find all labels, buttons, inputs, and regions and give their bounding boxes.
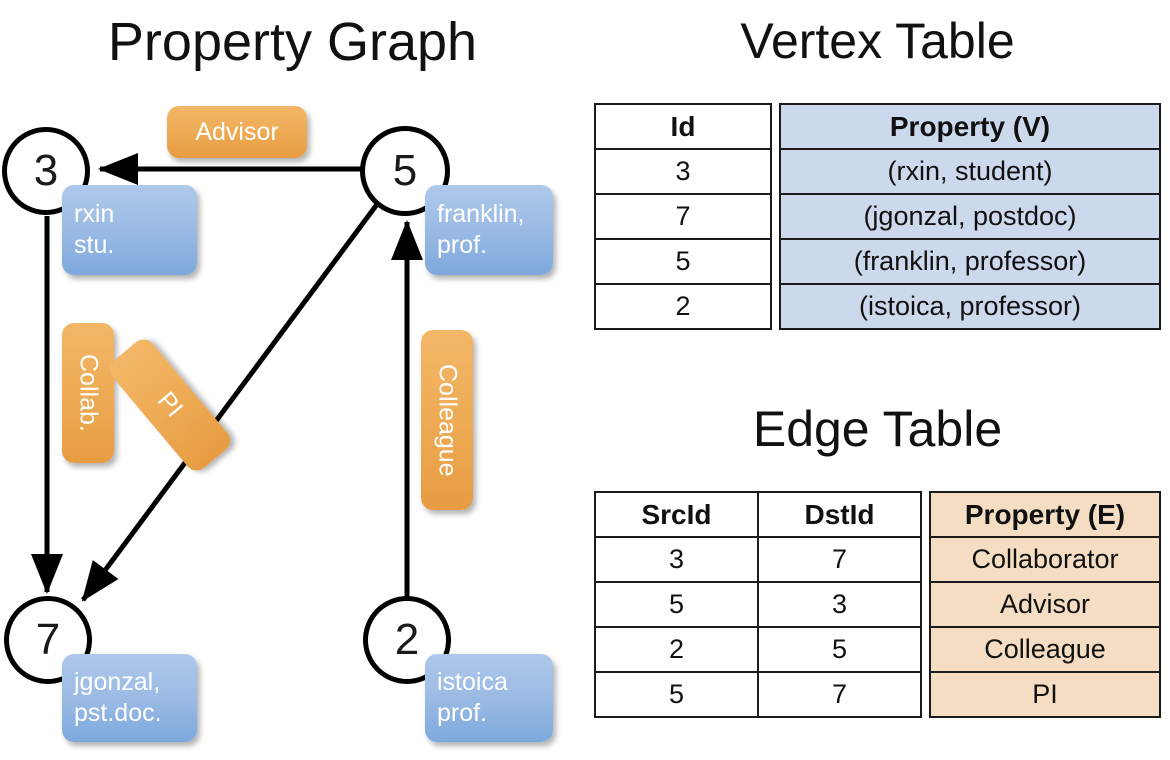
vertex-cell-id-3: 2 [595, 284, 771, 329]
vertex-table-property-column: Property (V) (rxin, student) (jgonzal, p… [779, 103, 1161, 330]
table-header-row: Id [595, 104, 771, 149]
edge-chip-colleague[interactable]: Colleague [421, 330, 473, 510]
table-row[interactable]: (istoica, professor) [780, 284, 1160, 329]
edge-table-src-dst-columns: SrcId DstId 3 7 5 3 2 5 5 7 [594, 491, 922, 718]
edge-cell-src-3: 5 [595, 672, 758, 717]
edge-chip-advisor[interactable]: Advisor [167, 106, 307, 158]
table-row[interactable]: 5 [595, 239, 771, 284]
edge-chip-collab-label: Collab. [74, 354, 103, 432]
edge-cell-dst-3: 7 [758, 672, 921, 717]
table-row[interactable]: (franklin, professor) [780, 239, 1160, 284]
table-row[interactable]: (rxin, student) [780, 149, 1160, 194]
table-header-row: Property (E) [930, 492, 1160, 537]
vertex-table-panel: Vertex Table Id 3 7 5 2 Property [585, 0, 1170, 390]
vertex-cell-property-2: (franklin, professor) [780, 239, 1160, 284]
vertex-chip-3-line2: stu. [74, 230, 185, 261]
property-graph-panel: Property Graph 3 5 7 2 rxin stu. frankli… [0, 0, 585, 760]
edge-table-property-column: Property (E) Collaborator Advisor Collea… [929, 491, 1161, 718]
table-row[interactable]: 3 7 [595, 537, 921, 582]
vertex-table-id-column: Id 3 7 5 2 [594, 103, 772, 330]
edge-chip-colleague-label: Colleague [433, 364, 462, 477]
page-title-vertex-table: Vertex Table [585, 10, 1170, 72]
edge-cell-dst-0: 7 [758, 537, 921, 582]
vertex-chip-3-line1: rxin [74, 199, 185, 230]
vertex-chip-5[interactable]: franklin, prof. [425, 185, 553, 275]
vertex-chip-7[interactable]: jgonzal, pst.doc. [62, 654, 197, 742]
table-header-row: Property (V) [780, 104, 1160, 149]
table-row[interactable]: Colleague [930, 627, 1160, 672]
table-row[interactable]: 7 [595, 194, 771, 239]
edge-cell-property-2: Colleague [930, 627, 1160, 672]
vertex-chip-5-line1: franklin, [437, 199, 541, 230]
vertex-chip-2-line1: istoica [437, 667, 541, 698]
edge-cell-src-0: 3 [595, 537, 758, 582]
edge-header-srcid: SrcId [595, 492, 758, 537]
vertex-header-id: Id [595, 104, 771, 149]
edge-chip-advisor-label: Advisor [195, 118, 278, 147]
vertex-cell-property-0: (rxin, student) [780, 149, 1160, 194]
edge-chip-pi-label: PI [151, 387, 188, 424]
vertex-chip-3[interactable]: rxin stu. [62, 185, 197, 275]
table-row[interactable]: 5 3 [595, 582, 921, 627]
table-row[interactable]: 5 7 [595, 672, 921, 717]
vertex-chip-7-line2: pst.doc. [74, 698, 185, 729]
edge-cell-dst-1: 3 [758, 582, 921, 627]
table-row[interactable]: 2 5 [595, 627, 921, 672]
table-row[interactable]: Advisor [930, 582, 1160, 627]
edge-cell-property-1: Advisor [930, 582, 1160, 627]
vertex-cell-id-2: 5 [595, 239, 771, 284]
edge-header-dstid: DstId [758, 492, 921, 537]
table-row[interactable]: (jgonzal, postdoc) [780, 194, 1160, 239]
vertex-cell-property-3: (istoica, professor) [780, 284, 1160, 329]
table-row[interactable]: PI [930, 672, 1160, 717]
edge-table-panel: Edge Table SrcId DstId 3 7 5 3 2 5 5 [585, 390, 1170, 760]
edge-cell-src-2: 2 [595, 627, 758, 672]
edge-chip-collab[interactable]: Collab. [62, 323, 114, 463]
edge-cell-property-3: PI [930, 672, 1160, 717]
table-row[interactable]: 3 [595, 149, 771, 194]
table-header-row: SrcId DstId [595, 492, 921, 537]
vertex-chip-2-line2: prof. [437, 698, 541, 729]
vertex-chip-2[interactable]: istoica prof. [425, 654, 553, 742]
edge-cell-src-1: 5 [595, 582, 758, 627]
vertex-header-property: Property (V) [780, 104, 1160, 149]
vertex-cell-id-0: 3 [595, 149, 771, 194]
edge-header-property: Property (E) [930, 492, 1160, 537]
table-row[interactable]: 2 [595, 284, 771, 329]
vertex-chip-5-line2: prof. [437, 230, 541, 261]
vertex-chip-7-line1: jgonzal, [74, 667, 185, 698]
table-row[interactable]: Collaborator [930, 537, 1160, 582]
edge-cell-dst-2: 5 [758, 627, 921, 672]
page-title-edge-table: Edge Table [585, 398, 1170, 460]
vertex-cell-property-1: (jgonzal, postdoc) [780, 194, 1160, 239]
edge-cell-property-0: Collaborator [930, 537, 1160, 582]
vertex-cell-id-1: 7 [595, 194, 771, 239]
